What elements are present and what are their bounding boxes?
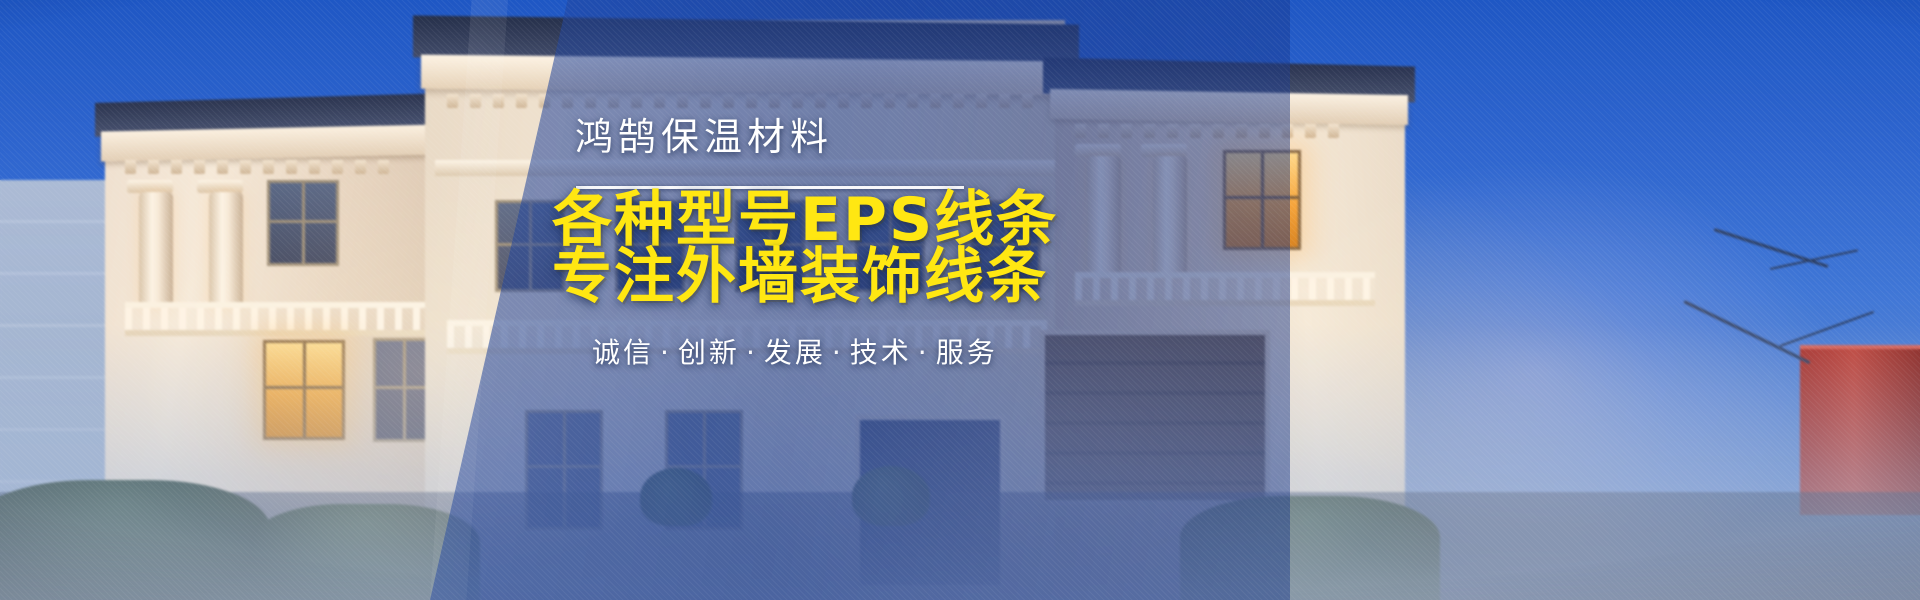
- tagline-item-0: 诚信: [592, 336, 654, 369]
- tagline-item-1: 创新: [678, 336, 740, 369]
- headline-block: 各种型号EPS线条 专注外墙装饰线条: [552, 192, 1058, 306]
- tagline-separator: ·: [740, 336, 764, 369]
- brand-name: 鸿鹄保温材料: [575, 106, 833, 161]
- tagline-item-4: 服务: [936, 336, 998, 369]
- tagline-separator: ·: [826, 336, 850, 369]
- tagline-separator: ·: [912, 336, 936, 369]
- tagline-separator: ·: [654, 336, 678, 369]
- banner-content: 鸿鹄保温材料 各种型号EPS线条 专注外墙装饰线条 诚信·创新·发展·技术·服务: [0, 0, 1920, 600]
- hero-banner: 鸿鹄保温材料 各种型号EPS线条 专注外墙装饰线条 诚信·创新·发展·技术·服务: [0, 0, 1920, 600]
- headline-line-2: 专注外墙装饰线条: [552, 249, 1058, 306]
- tagline-item-3: 技术: [850, 336, 912, 369]
- tagline-item-2: 发展: [764, 336, 826, 369]
- tagline: 诚信·创新·发展·技术·服务: [592, 331, 998, 371]
